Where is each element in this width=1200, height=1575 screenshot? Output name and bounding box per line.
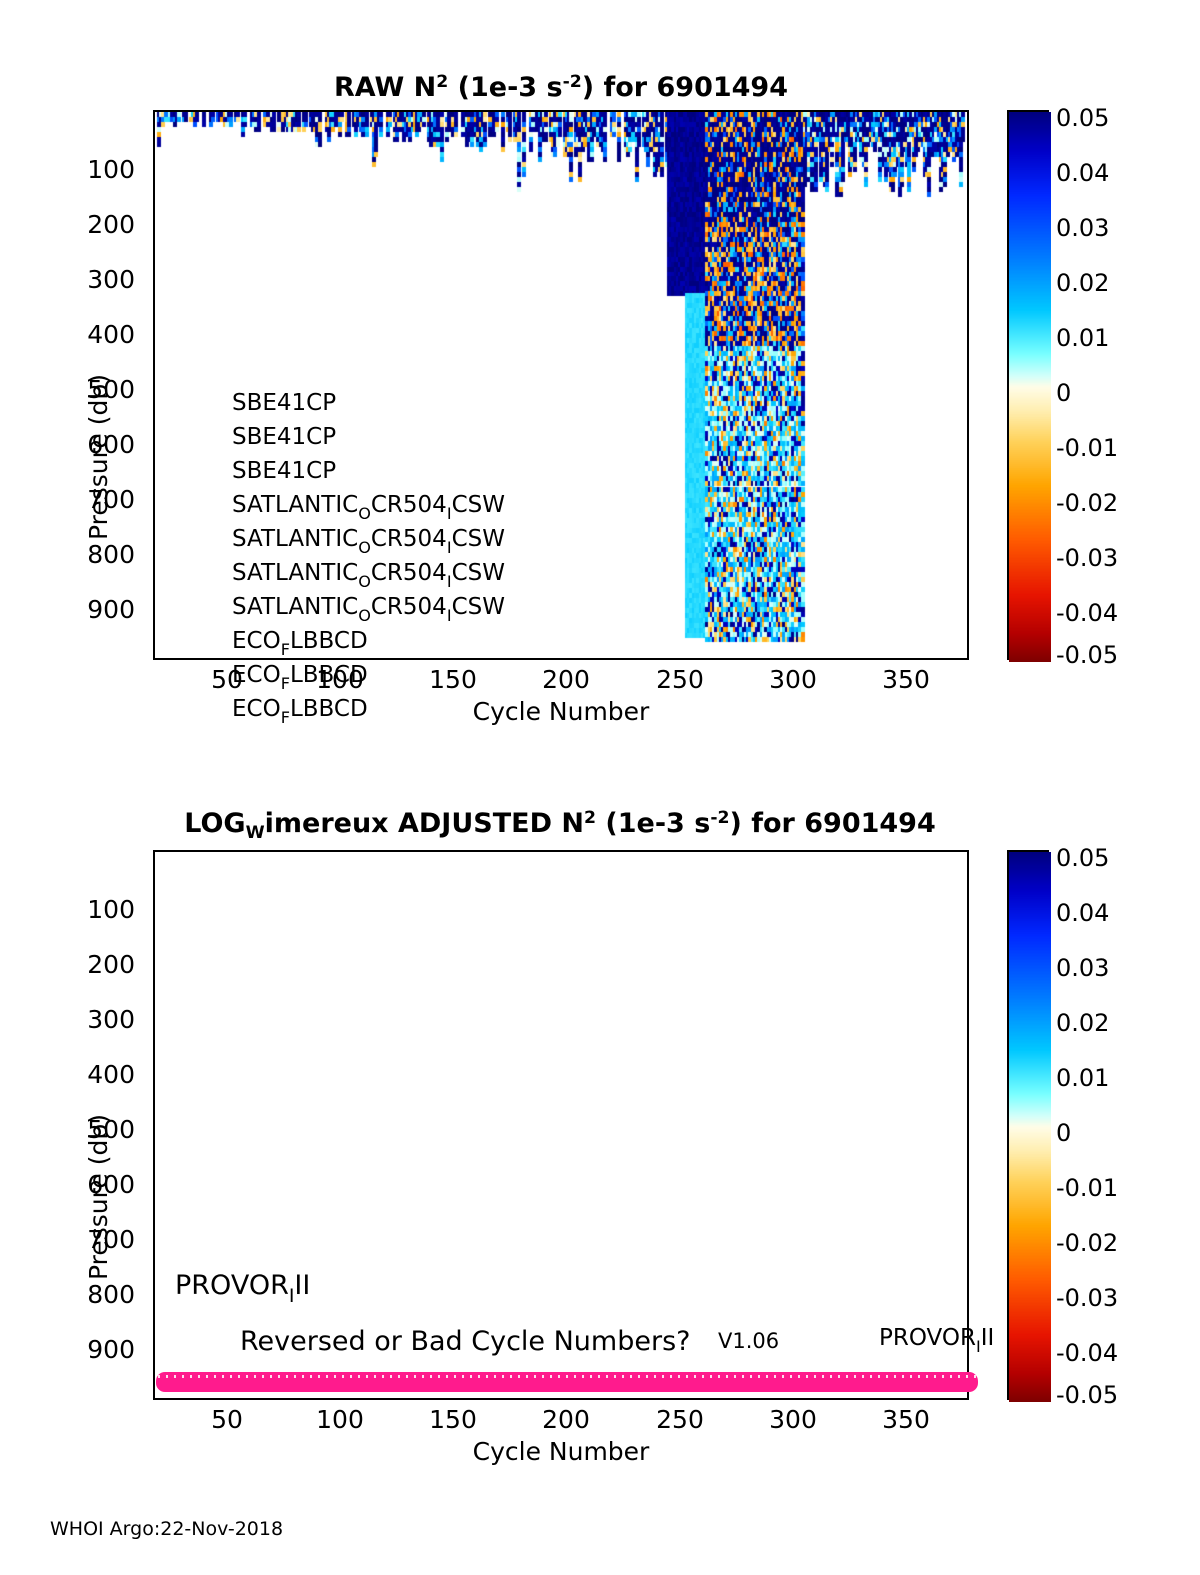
annotation-eco-1: ECOFLBBCD	[232, 630, 368, 658]
panel2-colorbar	[1007, 850, 1049, 1400]
panel2-cbar-label-2: 0.03	[1056, 954, 1109, 982]
annotation-version: V1.06	[718, 1331, 779, 1352]
panel2-cbar-label-9: -0.04	[1056, 1339, 1118, 1367]
panel1-cbar-label-10: -0.05	[1056, 641, 1118, 669]
panel1-cbar-label-3: 0.02	[1056, 269, 1109, 297]
panel2-cbar-label-1: 0.04	[1056, 899, 1109, 927]
panel1-cbar-label-0: 0.05	[1056, 104, 1109, 132]
annotation-sbe41cp-1: SBE41CP	[232, 392, 336, 415]
annotation-warning: Reversed or Bad Cycle Numbers?	[240, 1328, 690, 1355]
panel1-xtick-250: 250	[650, 665, 710, 694]
panel2-ytick-800: 800	[20, 1280, 135, 1309]
panel1-ytick-800: 800	[20, 540, 135, 569]
panel2-ytick-600: 600	[20, 1170, 135, 1199]
panel2-xtick-100: 100	[310, 1405, 370, 1434]
panel1-xtick-150: 150	[423, 665, 483, 694]
panel2-cbar-label-10: -0.05	[1056, 1381, 1118, 1409]
panel1-cbar-label-4: 0.01	[1056, 324, 1109, 352]
panel1-cbar-label-7: -0.02	[1056, 489, 1118, 517]
panel1-xtick-300: 300	[763, 665, 823, 694]
panel1-ytick-500: 500	[20, 375, 135, 404]
annotation-eco-3: ECOFLBBCD	[232, 698, 368, 726]
annotation-satlantic-4: SATLANTICOCR504ICSW	[232, 596, 505, 624]
panel2-ytick-900: 900	[20, 1335, 135, 1364]
panel1-cbar-label-1: 0.04	[1056, 159, 1109, 187]
panel1-ytick-300: 300	[20, 265, 135, 294]
panel2-xtick-250: 250	[650, 1405, 710, 1434]
panel1-cbar-label-6: -0.01	[1056, 434, 1118, 462]
panel1-ytick-100: 100	[20, 155, 135, 184]
annotation-satlantic-1: SATLANTICOCR504ICSW	[232, 494, 505, 522]
annotation-provor-right: PROVORIII	[879, 1327, 994, 1355]
panel2-cbar-label-3: 0.02	[1056, 1009, 1109, 1037]
panel2-cbar-label-8: -0.03	[1056, 1284, 1118, 1312]
figure-root: RAW N2 (1e-3 s-2) for 6901494 Pressure (…	[0, 0, 1200, 1575]
panel1-cbar-label-5: 0	[1056, 379, 1071, 407]
panel2-xtick-350: 350	[876, 1405, 936, 1434]
panel2-ytick-500: 500	[20, 1115, 135, 1144]
panel2-xtick-300: 300	[763, 1405, 823, 1434]
panel1-xtick-200: 200	[536, 665, 596, 694]
panel1-title: RAW N2 (1e-3 s-2) for 6901494	[153, 72, 969, 103]
panel1-ytick-200: 200	[20, 210, 135, 239]
panel2-xtick-150: 150	[423, 1405, 483, 1434]
annotation-sbe41cp-2: SBE41CP	[232, 426, 336, 449]
panel2-ytick-300: 300	[20, 1005, 135, 1034]
panel1-cbar-label-2: 0.03	[1056, 214, 1109, 242]
panel1-colorbar	[1007, 110, 1049, 660]
annotation-sbe41cp-3: SBE41CP	[232, 460, 336, 483]
panel2-cbar-label-0: 0.05	[1056, 844, 1109, 872]
panel2-ytick-400: 400	[20, 1060, 135, 1089]
figure-footer: WHOI Argo:22-Nov-2018	[50, 1518, 283, 1540]
annotation-provor-left: PROVORIII	[175, 1272, 310, 1306]
panel1-cbar-label-9: -0.04	[1056, 599, 1118, 627]
panel2-xlabel: Cycle Number	[353, 1437, 769, 1466]
panel1-xtick-350: 350	[876, 665, 936, 694]
annotation-eco-2: ECOFLBBCD	[232, 664, 368, 692]
panel2-cbar-label-4: 0.01	[1056, 1064, 1109, 1092]
annotation-satlantic-3: SATLANTICOCR504ICSW	[232, 562, 505, 590]
panel2-ytick-100: 100	[20, 895, 135, 924]
panel2-ytick-200: 200	[20, 950, 135, 979]
panel2-axes	[153, 850, 969, 1400]
panel2-ytick-700: 700	[20, 1225, 135, 1254]
panel1-ytick-400: 400	[20, 320, 135, 349]
panel1-ytick-900: 900	[20, 595, 135, 624]
panel2-xtick-50: 50	[197, 1405, 257, 1434]
panel1-xlabel: Cycle Number	[353, 697, 769, 726]
panel2-cbar-label-7: -0.02	[1056, 1229, 1118, 1257]
panel2-xtick-200: 200	[536, 1405, 596, 1434]
cycle-marker-band	[156, 1372, 978, 1392]
annotation-satlantic-2: SATLANTICOCR504ICSW	[232, 528, 505, 556]
panel2-title: LOGWimereux ADJUSTED N2 (1e-3 s-2) for 6…	[120, 808, 1000, 843]
panel2-cbar-label-6: -0.01	[1056, 1174, 1118, 1202]
panel1-cbar-label-8: -0.03	[1056, 544, 1118, 572]
panel1-ytick-600: 600	[20, 430, 135, 459]
panel1-ytick-700: 700	[20, 485, 135, 514]
panel2-cbar-label-5: 0	[1056, 1119, 1071, 1147]
